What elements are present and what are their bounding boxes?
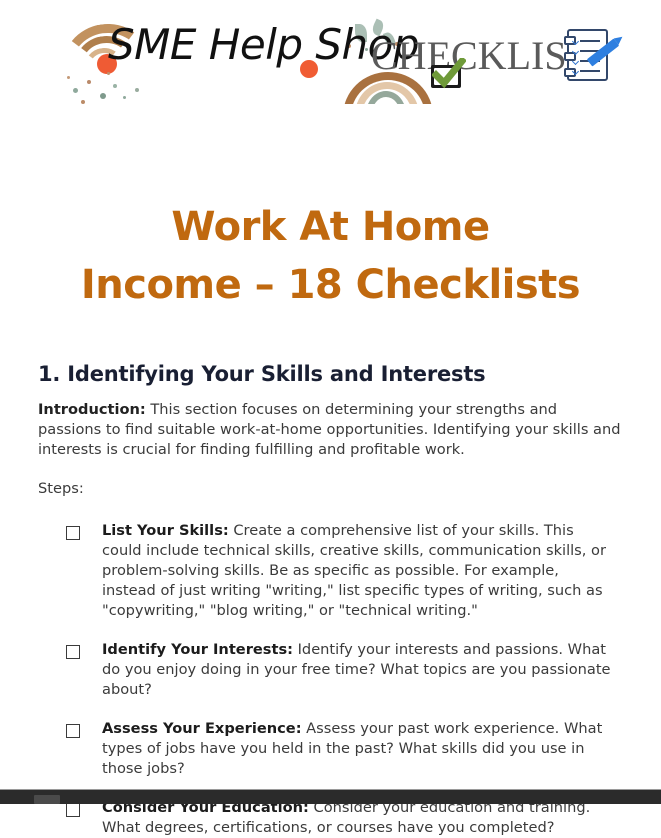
notepad-check-tick xyxy=(572,58,579,65)
list-item-text: Identify Your Interests: Identify your i… xyxy=(102,640,623,700)
confetti-dot xyxy=(81,100,85,104)
site-banner: SME Help Shop CHECKLIST xyxy=(0,0,661,120)
list-item[interactable]: Consider Your Education: Consider your e… xyxy=(38,798,623,838)
confetti-dot xyxy=(135,88,139,92)
checkbox-icon[interactable] xyxy=(66,803,80,817)
section-heading: 1. Identifying Your Skills and Interests xyxy=(38,314,623,388)
confetti-dot xyxy=(100,93,106,99)
introduction-label: Introduction: xyxy=(38,401,146,418)
notepad-line xyxy=(580,40,600,42)
list-item-term: Assess Your Experience: xyxy=(102,720,302,737)
taskbar-item[interactable] xyxy=(34,795,60,804)
list-item-text: List Your Skills: Create a comprehensive… xyxy=(102,521,623,621)
list-item-text: Assess Your Experience: Assess your past… xyxy=(102,719,623,779)
checkbox-icon[interactable] xyxy=(66,724,80,738)
confetti-dot xyxy=(67,76,70,79)
list-item-term: Identify Your Interests: xyxy=(102,641,293,658)
notepad-line xyxy=(580,70,600,72)
confetti-dot xyxy=(87,80,91,84)
steps-label: Steps: xyxy=(38,460,623,499)
green-check-icon xyxy=(432,58,466,90)
taskbar[interactable] xyxy=(0,789,661,804)
confetti-dot xyxy=(113,84,117,88)
checkbox-icon[interactable] xyxy=(66,526,80,540)
list-item[interactable]: List Your Skills: Create a comprehensive… xyxy=(38,521,623,621)
checklist-wordmark: CHECKLIST xyxy=(371,32,591,79)
list-item-text: Consider Your Education: Consider your e… xyxy=(102,798,623,838)
page-title-line-2: Income – 18 Checklists xyxy=(81,262,580,308)
confetti-dot xyxy=(73,88,78,93)
document-body: Work At Home Income – 18 Checklists 1. I… xyxy=(0,120,661,838)
introduction-paragraph: Introduction: This section focuses on de… xyxy=(38,388,623,460)
checklist: List Your Skills: Create a comprehensive… xyxy=(38,499,623,838)
page-title: Work At Home Income – 18 Checklists xyxy=(38,120,623,314)
confetti-dot xyxy=(123,96,126,99)
page-title-line-1: Work At Home xyxy=(171,204,489,250)
list-item[interactable]: Assess Your Experience: Assess your past… xyxy=(38,719,623,779)
checkbox-icon[interactable] xyxy=(66,645,80,659)
list-item[interactable]: Identify Your Interests: Identify your i… xyxy=(38,640,623,700)
list-item-term: List Your Skills: xyxy=(102,522,229,539)
confetti-dot xyxy=(107,72,110,75)
